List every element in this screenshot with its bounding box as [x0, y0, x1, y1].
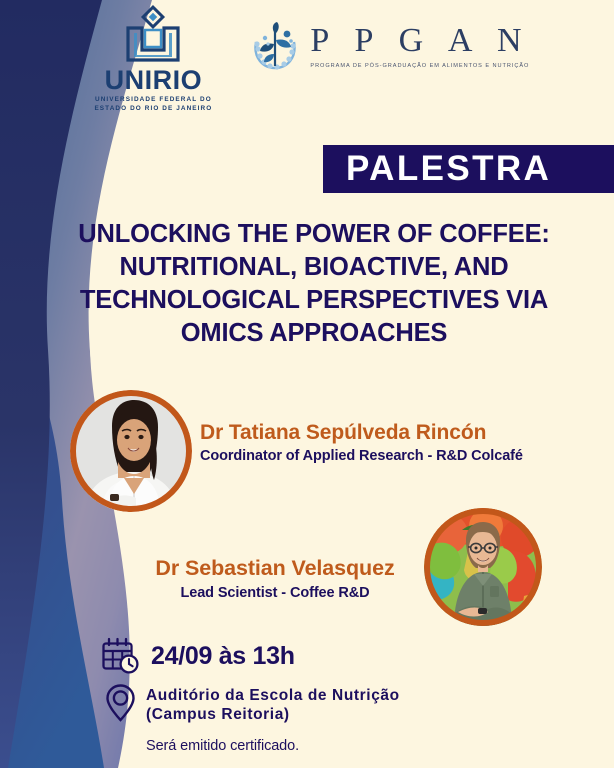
- palestra-banner: PALESTRA: [323, 145, 614, 193]
- unirio-subtitle-line2: ESTADO DO RIO DE JANEIRO: [94, 105, 212, 114]
- ppgan-wordmark: P P G A N: [310, 24, 530, 58]
- unirio-wordmark: UNIRIO: [105, 67, 203, 94]
- unirio-subtitle-line1: UNIVERSIDADE FEDERAL DO: [95, 96, 212, 105]
- certificate-note: Será emitido certificado.: [146, 738, 299, 754]
- speaker-1-name: Dr Tatiana Sepúlveda Rincón: [200, 421, 600, 445]
- ppgan-plant-emblem-icon: [247, 18, 303, 74]
- location-pin-icon: [104, 683, 137, 723]
- ppgan-logo: P P G A N PROGRAMA DE PÓS-GRADUAÇÃO EM A…: [247, 18, 530, 74]
- speaker-2-name: Dr Sebastian Velasquez: [110, 556, 440, 581]
- speaker-2-avatar: [424, 508, 542, 626]
- title-line-2: NUTRITIONAL, BIOACTIVE, AND: [40, 251, 588, 284]
- palestra-label: PALESTRA: [346, 149, 551, 189]
- speaker-2-avatar-ring: [424, 508, 542, 626]
- speaker-1-role: Coordinator of Applied Research - R&D Co…: [200, 448, 600, 464]
- title-line-3: TECHNOLOGICAL PERSPECTIVES VIA: [40, 284, 588, 317]
- ppgan-subtitle: PROGRAMA DE PÓS-GRADUAÇÃO EM ALIMENTOS E…: [310, 63, 530, 69]
- speaker-1-avatar: [70, 390, 192, 512]
- unirio-logo: UNIRIO UNIVERSIDADE FEDERAL DO ESTADO DO…: [83, 8, 223, 113]
- event-venue-row: Auditório da Escola de Nutrição (Campus …: [104, 683, 400, 725]
- speaker-2-role: Lead Scientist - Coffee R&D: [110, 585, 440, 601]
- speaker-1-info: Dr Tatiana Sepúlveda Rincón Coordinator …: [200, 421, 600, 464]
- logo-row: UNIRIO UNIVERSIDADE FEDERAL DO ESTADO DO…: [0, 8, 614, 128]
- title-line-1: UNLOCKING THE POWER OF COFFEE:: [40, 218, 588, 251]
- page-title: UNLOCKING THE POWER OF COFFEE: NUTRITION…: [40, 218, 588, 351]
- speaker-1-avatar-ring: [70, 390, 192, 512]
- title-line-4: OMICS APPROACHES: [40, 317, 588, 350]
- unirio-mark-icon: [116, 8, 190, 66]
- event-venue: Auditório da Escola de Nutrição (Campus …: [146, 683, 400, 725]
- event-venue-line2: (Campus Reitoria): [146, 705, 400, 724]
- speaker-2-info: Dr Sebastian Velasquez Lead Scientist - …: [110, 556, 440, 601]
- event-poster: UNIRIO UNIVERSIDADE FEDERAL DO ESTADO DO…: [0, 0, 614, 768]
- event-date-time: 24/09 às 13h: [151, 642, 295, 671]
- event-venue-line1: Auditório da Escola de Nutrição: [146, 686, 400, 705]
- event-date-row: 24/09 às 13h: [101, 637, 295, 675]
- calendar-clock-icon: [101, 637, 141, 675]
